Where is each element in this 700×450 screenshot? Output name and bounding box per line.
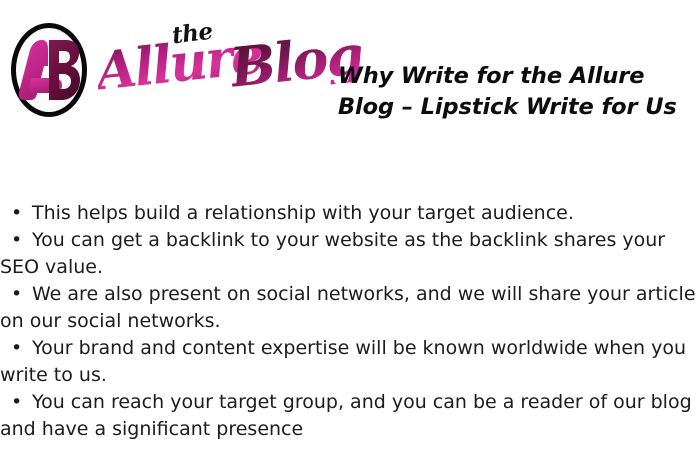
page-title: Why Write for the Allure Blog – Lipstick… (338, 61, 690, 123)
site-logo[interactable] (11, 23, 87, 117)
page-header: the Allure Blog Why Write for the Allure… (0, 0, 700, 140)
ab-monogram-icon (18, 36, 80, 104)
bullet-icon: • (0, 200, 32, 227)
benefits-list: •This helps build a relationship with yo… (0, 200, 700, 443)
bullet-icon: • (0, 281, 32, 308)
list-item: •Your brand and content expertise will b… (0, 335, 700, 389)
list-item-text: We are also present on social networks, … (0, 283, 696, 332)
list-item: •We are also present on social networks,… (0, 281, 700, 335)
list-item: •You can get a backlink to your website … (0, 227, 700, 281)
list-item-text: Your brand and content expertise will be… (0, 337, 686, 386)
list-item: •You can reach your target group, and yo… (0, 389, 700, 443)
list-item-text: You can reach your target group, and you… (0, 391, 692, 440)
site-wordmark[interactable]: the Allure Blog (96, 18, 344, 128)
bullet-icon: • (0, 389, 32, 416)
list-item-text: You can get a backlink to your website a… (0, 229, 665, 278)
list-item-text: This helps build a relationship with you… (32, 202, 574, 224)
bullet-icon: • (0, 227, 32, 254)
list-item: •This helps build a relationship with yo… (0, 200, 700, 227)
bullet-icon: • (0, 335, 32, 362)
